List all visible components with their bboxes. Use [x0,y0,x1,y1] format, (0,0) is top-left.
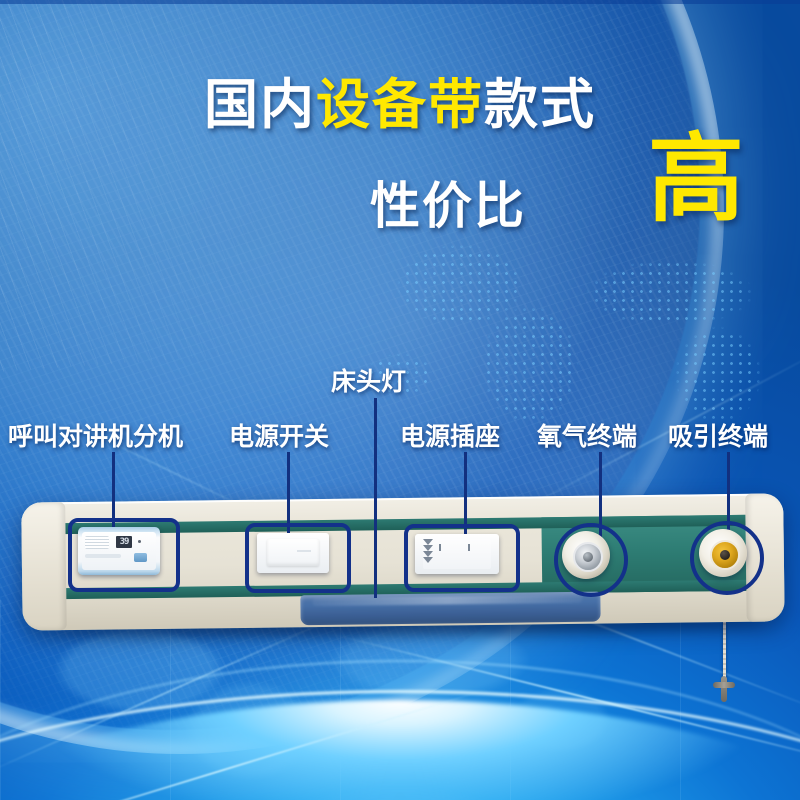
headline-text-highlight: 设备带 [316,75,484,135]
callout-oxygen-terminal: 氧气终端 [537,417,637,453]
headline-text-part1: 国内 [204,75,316,135]
callout-power-socket: 电源插座 [400,417,500,453]
highlight-box-oxygen-terminal [554,523,628,597]
headline-block: 国内设备带款式 性价比 高 [0,78,800,240]
unit-end-cap-left [21,502,67,631]
headline-subtext: 性价比 [370,166,526,238]
leader-line-bed-lamp [374,398,377,598]
highlight-box-suction-terminal [690,521,764,595]
highlight-box-power-socket [404,524,520,592]
headline-line-2: 性价比 高 [0,154,800,240]
callout-bed-lamp: 床头灯 [331,362,406,398]
headline-line-1: 国内设备带款式 [0,78,800,132]
highlight-box-intercom [68,518,180,592]
headline-big-word: 高 [648,132,744,228]
callout-power-switch: 电源开关 [229,417,329,453]
top-edge-bar [0,0,800,4]
callout-suction-terminal: 吸引终端 [668,417,768,453]
pull-cord-grip[interactable] [713,676,735,702]
headline-text-part2: 款式 [484,75,596,135]
product-promo-image: 国内设备带款式 性价比 高 呼叫对讲机分机 电源开关 床头灯 电源插座 氧气终端… [0,0,800,800]
highlight-box-power-switch [245,523,351,593]
callout-intercom: 呼叫对讲机分机 [8,417,183,453]
